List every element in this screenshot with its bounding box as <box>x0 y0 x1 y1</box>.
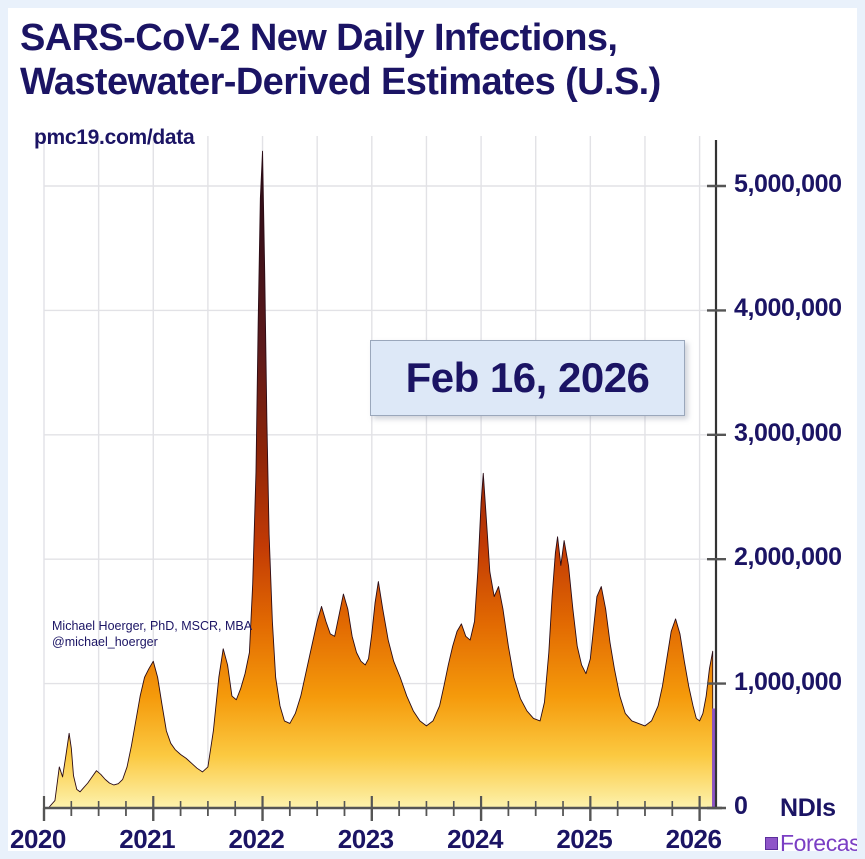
y-tick-label: 2,000,000 <box>734 543 842 572</box>
legend-forecast-label: Forecast <box>780 830 857 851</box>
y-tick-label: 4,000,000 <box>734 294 842 323</box>
forecast-swatch-icon <box>765 837 778 850</box>
area-series-ndis <box>49 151 712 808</box>
y-tick-label: 3,000,000 <box>734 419 842 448</box>
x-tick-label: 2020 <box>10 824 66 851</box>
date-annotation-box: Feb 16, 2026 <box>370 340 685 416</box>
x-tick-label: 2026 <box>666 824 722 851</box>
attribution: Michael Hoerger, PhD, MSCR, MBA @michael… <box>52 618 252 650</box>
legend-forecast: Forecast <box>765 830 857 851</box>
series-label-ndis: NDIs <box>780 794 836 823</box>
area-path-ndis <box>49 151 712 808</box>
y-tick-label: 5,000,000 <box>734 170 842 199</box>
x-tick-label: 2021 <box>119 824 175 851</box>
chart-page: SARS-CoV-2 New Daily Infections, Wastewa… <box>0 0 865 859</box>
x-tick-label: 2024 <box>447 824 503 851</box>
date-annotation-text: Feb 16, 2026 <box>406 354 650 402</box>
chart-canvas: SARS-CoV-2 New Daily Infections, Wastewa… <box>8 8 857 851</box>
source-label: pmc19.com/data <box>34 126 194 150</box>
attribution-line-1: Michael Hoerger, PhD, MSCR, MBA <box>52 618 252 634</box>
x-tick-label: 2022 <box>229 824 285 851</box>
x-tick-label: 2023 <box>338 824 394 851</box>
y-tick-label: 0 <box>734 792 748 821</box>
attribution-line-2: @michael_hoerger <box>52 634 252 650</box>
x-tick-label: 2025 <box>556 824 612 851</box>
y-tick-label: 1,000,000 <box>734 668 842 697</box>
